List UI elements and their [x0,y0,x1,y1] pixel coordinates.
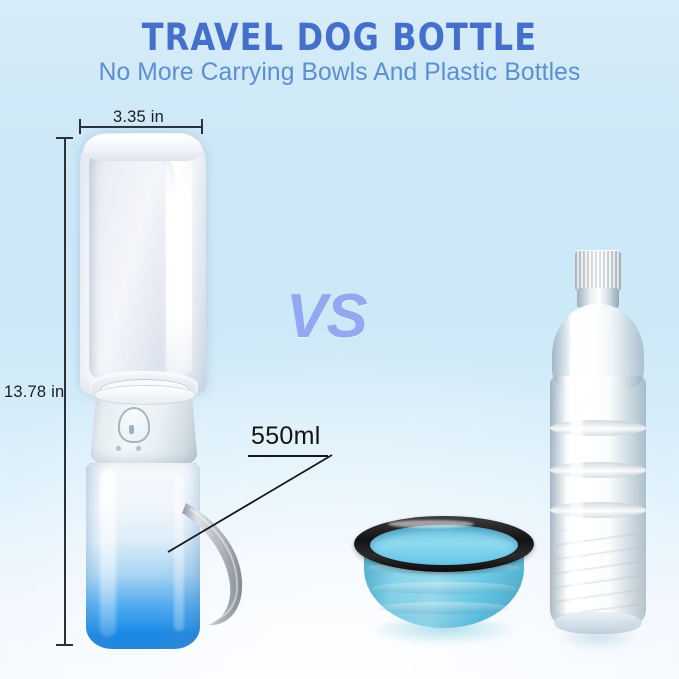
collar-dot-left-icon [116,446,121,451]
plastic-bottle-cap [575,250,621,291]
bowl-rib [372,582,516,594]
plastic-bottle-base [554,612,642,634]
bottle-scoop-cavity [89,140,175,378]
bottle-scoop-rim [84,135,202,161]
plastic-bottle-label-texture [556,530,640,622]
plastic-bottle-rib [550,502,646,518]
width-dimension-cap-left [79,119,81,134]
width-dimension-cap-right [201,119,203,134]
plastic-bottle-rib [550,420,646,436]
versus-label: VS [286,281,367,352]
product-infographic: TRAVEL DOG BOTTLE No More Carrying Bowls… [0,0,679,679]
width-dimension-line [79,126,203,128]
lock-button-stem-icon [129,425,134,434]
page-title: TRAVEL DOG BOTTLE [14,16,666,59]
disposable-plastic-water-bottle [546,250,650,652]
height-dimension-cap-bottom [56,644,73,646]
height-dimension-label: 13.78 in [4,383,64,402]
height-dimension-cap-top [56,137,73,139]
travel-dog-bottle [78,133,208,649]
bottle-collar-top [94,385,196,405]
bowl-inner-surface [370,525,518,565]
bowl-rim-highlight [388,520,474,528]
plastic-bottle-rib [550,462,646,478]
plastic-bottle-highlight [570,312,583,612]
bottle-scoop-highlight [166,149,192,375]
lock-button-icon [118,407,150,443]
collar-dot-right-icon [136,446,141,451]
width-dimension-label: 3.35 in [113,108,164,127]
bottle-body-highlight [100,469,116,637]
bowl-rib [378,602,510,614]
capacity-callout-leader-line [160,440,335,560]
height-dimension-line [64,138,66,645]
page-subtitle: No More Carrying Bowls And Plastic Bottl… [5,58,674,87]
collapsible-dog-bowl [348,512,540,644]
